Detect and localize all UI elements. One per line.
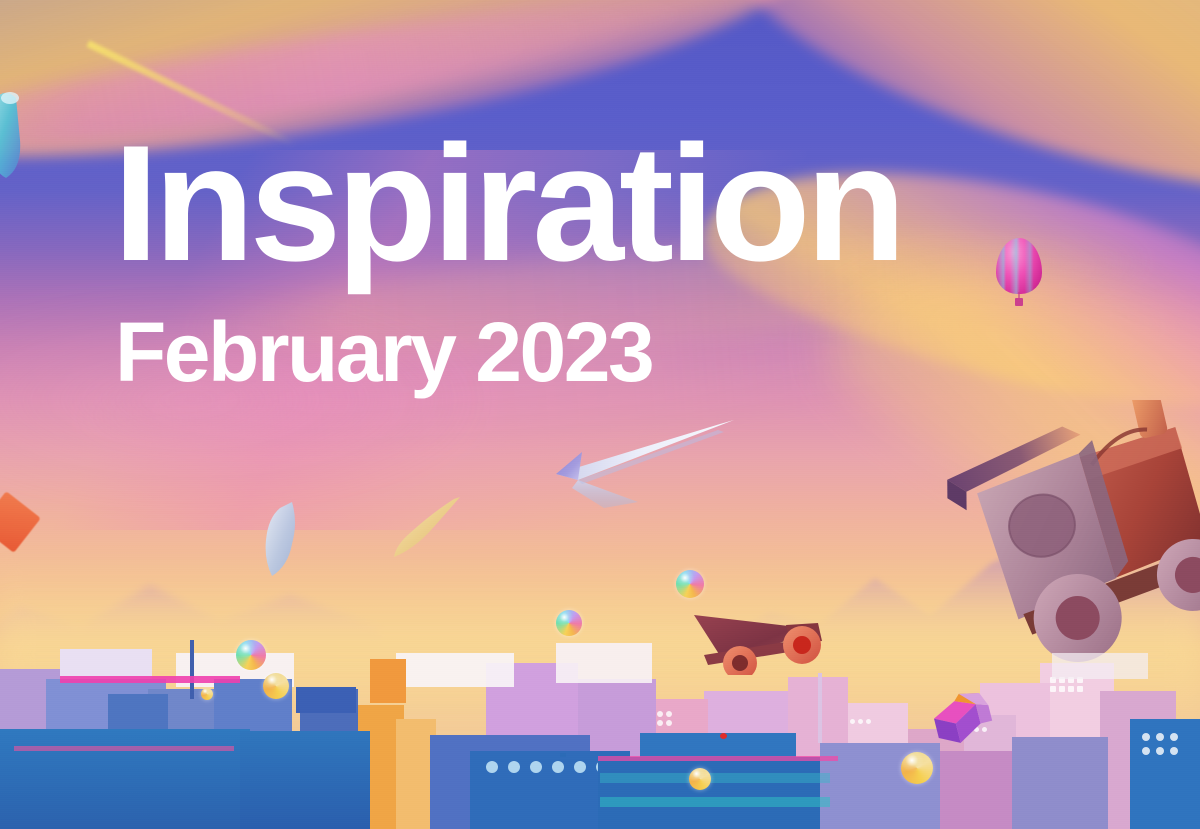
page-subtitle: February 2023 — [115, 310, 901, 394]
marble — [556, 610, 582, 636]
building-slab — [1052, 653, 1148, 679]
building — [598, 757, 838, 829]
marble — [676, 570, 704, 598]
window-grid — [486, 761, 608, 773]
building — [296, 687, 356, 713]
building-detail — [560, 753, 566, 757]
city-skyline — [0, 640, 1200, 829]
marble — [689, 768, 711, 790]
building-stripe — [598, 756, 838, 761]
toy-train — [945, 400, 1200, 670]
title-block: Inspiration February 2023 — [113, 128, 901, 394]
building-light — [720, 733, 727, 739]
building-spire — [818, 673, 822, 743]
marble — [901, 752, 933, 784]
building-slab — [396, 653, 514, 687]
building — [0, 729, 250, 829]
balloon-basket — [1015, 298, 1023, 306]
building — [1130, 719, 1200, 829]
building-antenna — [190, 640, 194, 699]
falling-cube-cluster — [930, 693, 1002, 753]
building — [1012, 737, 1108, 829]
marble — [236, 640, 266, 670]
building-slab — [556, 643, 652, 683]
building-stripe — [600, 797, 830, 807]
building-stripe — [14, 746, 234, 751]
building — [370, 659, 406, 703]
window-grid — [1050, 677, 1083, 692]
building — [240, 731, 370, 829]
building-stripe — [60, 676, 240, 683]
window-grid — [1142, 733, 1178, 755]
paper-airplane — [548, 418, 748, 510]
poster-canvas: Inspiration February 2023 — [0, 0, 1200, 829]
marble — [201, 688, 213, 700]
balloon-envelope — [996, 238, 1042, 294]
page-title: Inspiration — [113, 128, 901, 280]
building-stripe — [600, 773, 830, 783]
hot-air-balloon — [996, 238, 1042, 310]
marble — [263, 673, 289, 699]
